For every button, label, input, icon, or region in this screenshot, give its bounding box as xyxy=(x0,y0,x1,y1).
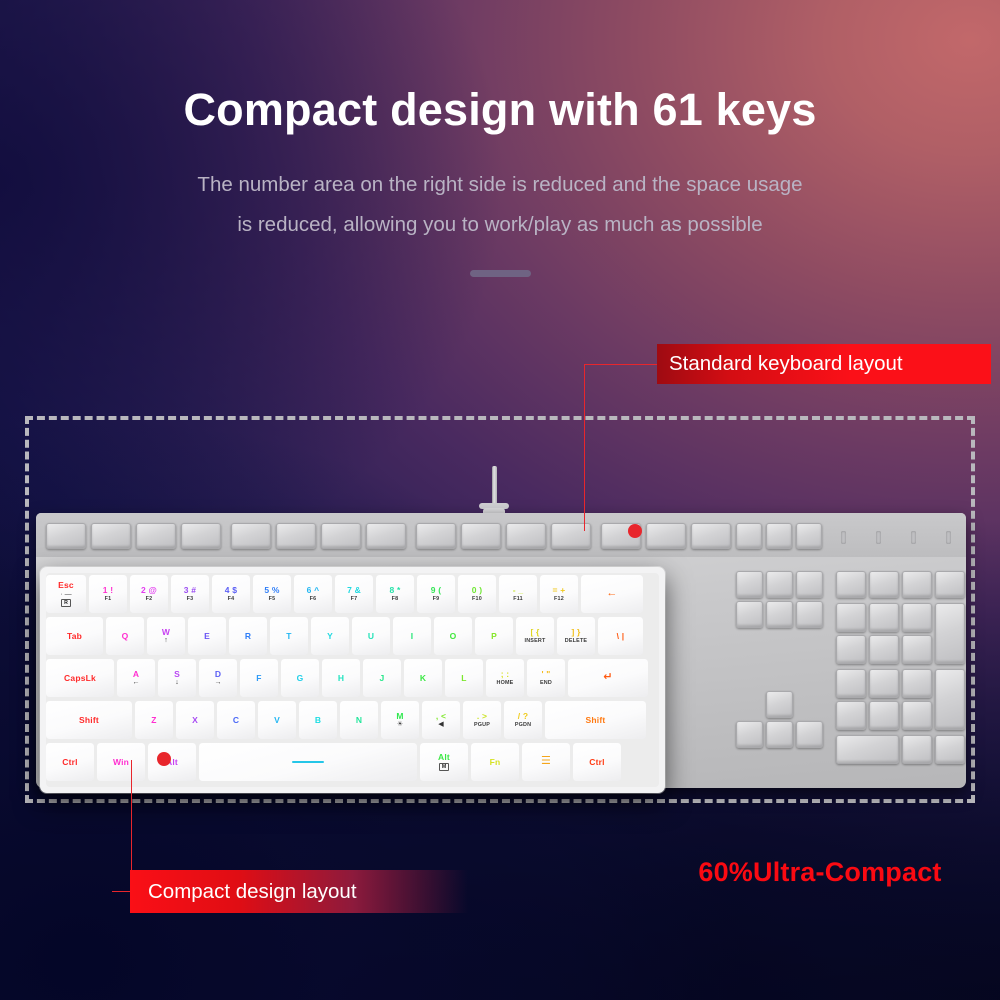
full-key-nav-0-0[interactable] xyxy=(736,571,763,598)
key-legend: W xyxy=(162,628,170,637)
key-legend: 5 % xyxy=(264,586,279,595)
key-sublegend: F2 xyxy=(146,596,153,602)
full-key-nav-1-0[interactable] xyxy=(736,601,763,628)
key-5[interactable]: 5 %F5 xyxy=(253,575,291,613)
key-sublegend: F4 xyxy=(228,596,235,602)
key-Alt[interactable]: AltM xyxy=(420,743,468,781)
key-Esc[interactable]: Esc· —R xyxy=(46,575,86,613)
key-A[interactable]: A← xyxy=(117,659,155,697)
full-key-nav-1-1[interactable] xyxy=(766,601,793,628)
key-legend: Alt xyxy=(438,753,450,762)
key-Z[interactable]: Z xyxy=(135,701,173,739)
compact-keyboard-keybed: Esc· —R1 !F12 @F23 #F34 $F45 %F56 ^F67 &… xyxy=(46,573,659,787)
key-secondary-icon: ☀ xyxy=(397,721,403,728)
key-space[interactable] xyxy=(199,743,417,781)
key-1[interactable]: 1 !F1 xyxy=(89,575,127,613)
footer-ultra-compact-text: 60%Ultra-Compact xyxy=(660,857,980,888)
page-title: Compact design with 61 keys xyxy=(0,84,1000,136)
key-2[interactable]: 2 @F2 xyxy=(130,575,168,613)
full-key-function-10[interactable] xyxy=(506,523,546,549)
key-legend: 6 ^ xyxy=(307,586,320,595)
key-sublegend: F12 xyxy=(554,596,564,602)
key-legend: - _ xyxy=(513,586,524,595)
key-sublegend: PGDN xyxy=(515,722,531,728)
full-key-numpad-low-1-0[interactable] xyxy=(836,701,866,730)
full-key-nav-1-2[interactable] xyxy=(796,601,823,628)
full-key-numpad-top-1[interactable] xyxy=(869,571,899,598)
key-secondary-icon: → xyxy=(215,679,222,686)
full-key-function-2[interactable] xyxy=(136,523,176,549)
indicator-led-3 xyxy=(946,531,951,544)
full-key-nav-top-0[interactable] xyxy=(736,523,762,549)
key-legend: 3 # xyxy=(184,586,196,595)
key-sublegend: DELETE xyxy=(565,638,587,644)
key-Win[interactable]: Win xyxy=(97,743,145,781)
key-9[interactable]: 9 (F9 xyxy=(417,575,455,613)
key-W[interactable]: W↑ xyxy=(147,617,185,655)
key-legend: L xyxy=(461,674,466,683)
key-secondary-icon: ◀ xyxy=(438,721,443,728)
key-CapsLk[interactable]: CapsLk xyxy=(46,659,114,697)
key-legend: T xyxy=(286,632,291,641)
key-legend: Shift xyxy=(586,716,606,725)
compact-60-keyboard: Esc· —R1 !F12 @F23 #F34 $F45 %F56 ^F67 &… xyxy=(40,567,665,793)
full-key-numpad-low-1-2[interactable] xyxy=(902,701,932,730)
key-3[interactable]: 3 #F3 xyxy=(171,575,209,613)
key-legend: S xyxy=(174,670,180,679)
indicator-led-1 xyxy=(876,531,881,544)
key-E[interactable]: E xyxy=(188,617,226,655)
subtitle-line-2: is reduced, allowing you to work/play as… xyxy=(0,213,1000,237)
badge-standard-label: Standard keyboard layout xyxy=(669,352,903,376)
key-secondary-icon: ← xyxy=(133,679,140,686)
full-key-function-5[interactable] xyxy=(276,523,316,549)
full-key-numpad-dot[interactable] xyxy=(902,735,932,764)
full-key-numpad-plus[interactable] xyxy=(935,603,965,664)
key-legend: ] } xyxy=(571,628,580,637)
callout-dot-compact xyxy=(157,752,171,766)
key-4[interactable]: 4 $F4 xyxy=(212,575,250,613)
key-space[interactable]: ; :HOME xyxy=(486,659,524,697)
key-sublegend: F1 xyxy=(105,596,112,602)
key-legend: 1 ! xyxy=(103,586,114,595)
key-space[interactable]: ] }DELETE xyxy=(557,617,595,655)
full-key-nav-0-1[interactable] xyxy=(766,571,793,598)
key-legend: E xyxy=(204,632,210,641)
key-legend: 2 @ xyxy=(141,586,157,595)
key-legend: Win xyxy=(113,758,129,767)
key-R[interactable]: R xyxy=(229,617,267,655)
full-key-numpad-low-0-2[interactable] xyxy=(902,669,932,698)
key-legend: ↵ xyxy=(603,672,612,684)
key-legend: \ | xyxy=(617,632,625,641)
key-sublegend: INSERT xyxy=(525,638,546,644)
key-secondary-icon: · — xyxy=(60,591,71,598)
key-legend: 4 $ xyxy=(225,586,237,595)
full-key-nav-top-1[interactable] xyxy=(766,523,792,549)
key-B[interactable]: B xyxy=(299,701,337,739)
full-key-function-4[interactable] xyxy=(231,523,271,549)
key-space[interactable]: [ {INSERT xyxy=(516,617,554,655)
full-key-nav-0-2[interactable] xyxy=(796,571,823,598)
key-8[interactable]: 8 *F8 xyxy=(376,575,414,613)
leader-line-top-vertical xyxy=(584,365,585,531)
key-Tab[interactable]: Tab xyxy=(46,617,103,655)
key-K[interactable]: K xyxy=(404,659,442,697)
key-sublegend: F5 xyxy=(269,596,276,602)
key-7[interactable]: 7 &F7 xyxy=(335,575,373,613)
key-sublegend: END xyxy=(540,680,552,686)
key-C[interactable]: C xyxy=(217,701,255,739)
keyboard-row-tab-row: TabQW↑ERTYUIOP[ {INSERT] }DELETE\ | xyxy=(46,617,659,655)
key-space[interactable]: ' "END xyxy=(527,659,565,697)
key-Fn[interactable]: Fn xyxy=(471,743,519,781)
key-legend: CapsLk xyxy=(64,674,96,683)
key-legend: Ctrl xyxy=(589,758,604,767)
divider-pill xyxy=(470,270,531,277)
full-key-numpad-enter[interactable] xyxy=(935,669,965,730)
key-legend: / ? xyxy=(518,712,529,721)
key-legend: Ctrl xyxy=(62,758,77,767)
key-secondary-icon: ↑ xyxy=(164,637,168,644)
key-legend: G xyxy=(297,674,304,683)
keyboard-row-number-row: Esc· —R1 !F12 @F23 #F34 $F45 %F56 ^F67 &… xyxy=(46,575,659,613)
full-key-nav-top-2[interactable] xyxy=(796,523,822,549)
key-legend: = + xyxy=(553,586,566,595)
key-V[interactable]: V xyxy=(258,701,296,739)
keyboard-row-shift-row: ShiftZXCVBNM☀, <◀. >PGUP/ ?PGDNShift xyxy=(46,701,659,739)
key-legend: A xyxy=(133,670,139,679)
full-key-function-7[interactable] xyxy=(366,523,406,549)
key-sublegend: F10 xyxy=(472,596,482,602)
full-key-numpad-top-3[interactable] xyxy=(935,571,965,598)
key-sublegend: F7 xyxy=(351,596,358,602)
full-key-function-6[interactable] xyxy=(321,523,361,549)
key-legend: ' " xyxy=(541,670,550,679)
key-legend: H xyxy=(338,674,344,683)
full-key-function-0[interactable] xyxy=(46,523,86,549)
full-key-numpad-1-0[interactable] xyxy=(836,635,866,664)
key-legend: P xyxy=(491,632,497,641)
full-key-numpad-1-1[interactable] xyxy=(869,635,899,664)
key-sublegend: F9 xyxy=(433,596,440,602)
key-legend: [ { xyxy=(530,628,539,637)
key-M[interactable]: M☀ xyxy=(381,701,419,739)
key-legend: M xyxy=(396,712,403,721)
key-sublegend: M xyxy=(439,763,449,771)
key-legend: B xyxy=(315,716,321,725)
key-legend: ← xyxy=(606,588,617,600)
key-legend: U xyxy=(368,632,374,641)
leader-line-top-horizontal xyxy=(584,364,658,365)
key-space[interactable]: ☰ xyxy=(522,743,570,781)
key-space[interactable]: , <◀ xyxy=(422,701,460,739)
key-Shift[interactable]: Shift xyxy=(46,701,132,739)
full-key-arrow-up[interactable] xyxy=(766,691,793,718)
key-legend: Shift xyxy=(79,716,99,725)
full-key-numpad-0-0[interactable] xyxy=(836,603,866,632)
full-key-function-3[interactable] xyxy=(181,523,221,549)
key-Q[interactable]: Q xyxy=(106,617,144,655)
key-G[interactable]: G xyxy=(281,659,319,697)
key-legend: N xyxy=(356,716,362,725)
key-sublegend: F3 xyxy=(187,596,194,602)
full-key-function-9[interactable] xyxy=(461,523,501,549)
key-S[interactable]: S↓ xyxy=(158,659,196,697)
key-legend: Y xyxy=(327,632,333,641)
full-key-numpad-0-2[interactable] xyxy=(902,603,932,632)
full-key-function-11[interactable] xyxy=(551,523,591,549)
key-U[interactable]: U xyxy=(352,617,390,655)
key-legend: , < xyxy=(436,712,446,721)
key-L[interactable]: L xyxy=(445,659,483,697)
key-Alt[interactable]: Alt xyxy=(148,743,196,781)
key-legend: R xyxy=(245,632,251,641)
key-sublegend: F6 xyxy=(310,596,317,602)
key-space[interactable]: = +F12 xyxy=(540,575,578,613)
indicator-led-2 xyxy=(911,531,916,544)
key-legend: Esc xyxy=(58,581,74,590)
key-J[interactable]: J xyxy=(363,659,401,697)
key-I[interactable]: I xyxy=(393,617,431,655)
key-sublegend: F8 xyxy=(392,596,399,602)
key-6[interactable]: 6 ^F6 xyxy=(294,575,332,613)
badge-compact-design-layout[interactable]: Compact design layout xyxy=(130,870,468,913)
leader-line-bottom-horizontal xyxy=(112,891,132,892)
spacebar-indicator xyxy=(292,761,324,763)
indicator-led-0 xyxy=(841,531,846,544)
key-Ctrl[interactable]: Ctrl xyxy=(46,743,94,781)
key-D[interactable]: D→ xyxy=(199,659,237,697)
key-X[interactable]: X xyxy=(176,701,214,739)
key-N[interactable]: N xyxy=(340,701,378,739)
key-legend: X xyxy=(192,716,198,725)
full-key-numpad-1-2[interactable] xyxy=(902,635,932,664)
key-legend: 7 & xyxy=(347,586,361,595)
key-legend: Q xyxy=(122,632,129,641)
key-T[interactable]: T xyxy=(270,617,308,655)
key-space[interactable]: . >PGUP xyxy=(463,701,501,739)
key-sublegend: PGUP xyxy=(474,722,490,728)
full-key-arrow-down[interactable] xyxy=(766,721,793,748)
key-legend: 0 ) xyxy=(472,586,483,595)
key-sublegend: F11 xyxy=(513,596,523,602)
full-key-function-1[interactable] xyxy=(91,523,131,549)
key-O[interactable]: O xyxy=(434,617,472,655)
key-legend: O xyxy=(450,632,457,641)
subtitle-line-1: The number area on the right side is red… xyxy=(0,173,1000,197)
full-key-numpad-top-2[interactable] xyxy=(902,571,932,598)
key-sublegend: R xyxy=(61,599,71,607)
keyboard-row-caps-row: CapsLkA←S↓D→FGHJKL; :HOME' "END↵ xyxy=(46,659,659,697)
key-space[interactable]: - _F11 xyxy=(499,575,537,613)
key-Y[interactable]: Y xyxy=(311,617,349,655)
full-key-numpad-low-1-1[interactable] xyxy=(869,701,899,730)
key-space[interactable]: ← xyxy=(581,575,643,613)
key-legend: Tab xyxy=(67,632,82,641)
full-key-numpad-tail[interactable] xyxy=(935,735,965,764)
key-legend: ☰ xyxy=(541,756,551,768)
full-key-numpad-zero[interactable] xyxy=(836,735,899,764)
key-Shift[interactable]: Shift xyxy=(545,701,646,739)
full-key-numpad-low-0-0[interactable] xyxy=(836,669,866,698)
callout-dot-standard xyxy=(628,524,642,538)
key-P[interactable]: P xyxy=(475,617,513,655)
full-key-numpad-0-1[interactable] xyxy=(869,603,899,632)
key-legend: Z xyxy=(151,716,156,725)
product-marketing-image: Compact design with 61 keys The number a… xyxy=(0,0,1000,1000)
full-key-function-14[interactable] xyxy=(691,523,731,549)
full-key-arrow-left[interactable] xyxy=(736,721,763,748)
key-space[interactable]: \ | xyxy=(598,617,643,655)
key-legend: 9 ( xyxy=(431,586,442,595)
full-key-numpad-low-0-1[interactable] xyxy=(869,669,899,698)
key-H[interactable]: H xyxy=(322,659,360,697)
key-space[interactable]: ↵ xyxy=(568,659,648,697)
full-key-function-8[interactable] xyxy=(416,523,456,549)
key-legend: D xyxy=(215,670,221,679)
keyboard-row-modifier-row: CtrlWinAltAltMFn☰Ctrl xyxy=(46,743,659,781)
key-sublegend: HOME xyxy=(497,680,514,686)
badge-compact-label: Compact design layout xyxy=(148,880,357,904)
key-F[interactable]: F xyxy=(240,659,278,697)
key-legend: ; : xyxy=(501,670,510,679)
key-legend: Fn xyxy=(490,758,501,767)
full-key-arrow-right[interactable] xyxy=(796,721,823,748)
full-key-numpad-top-0[interactable] xyxy=(836,571,866,598)
key-Ctrl[interactable]: Ctrl xyxy=(573,743,621,781)
key-secondary-icon: ↓ xyxy=(175,679,179,686)
badge-standard-keyboard-layout[interactable]: Standard keyboard layout xyxy=(657,344,991,384)
key-legend: V xyxy=(274,716,280,725)
key-0[interactable]: 0 )F10 xyxy=(458,575,496,613)
key-legend: K xyxy=(420,674,426,683)
key-legend: F xyxy=(256,674,261,683)
key-legend: C xyxy=(233,716,239,725)
key-legend: 8 * xyxy=(390,586,401,595)
key-legend: I xyxy=(411,632,414,641)
full-key-function-13[interactable] xyxy=(646,523,686,549)
key-legend: J xyxy=(380,674,385,683)
key-legend: . > xyxy=(477,712,487,721)
key-space[interactable]: / ?PGDN xyxy=(504,701,542,739)
